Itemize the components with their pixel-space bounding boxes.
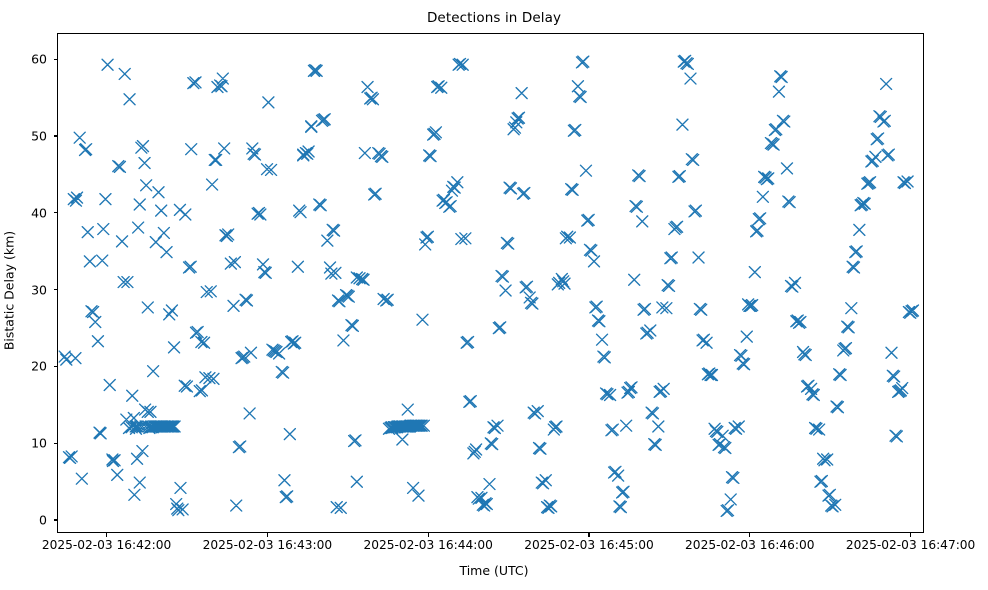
y-tick-label: 0	[0, 512, 47, 527]
x-tick-label: 2025-02-03 16:44:00	[363, 538, 492, 552]
y-tick-label: 60	[0, 52, 47, 67]
y-tick-mark	[54, 443, 58, 444]
matplotlib-figure: Detections in Delay Bistatic Delay (km) …	[0, 0, 988, 590]
y-tick-mark	[54, 212, 58, 213]
y-tick-label: 10	[0, 436, 47, 451]
x-tick-label: 2025-02-03 16:46:00	[685, 538, 814, 552]
x-tick-mark	[749, 533, 750, 537]
x-tick-mark	[106, 533, 107, 537]
plot-area	[58, 34, 923, 532]
x-tick-label: 2025-02-03 16:47:00	[846, 538, 975, 552]
y-tick-label: 40	[0, 205, 47, 220]
scatter-series	[58, 34, 923, 532]
y-tick-mark	[54, 519, 58, 520]
x-tick-mark	[428, 533, 429, 537]
y-tick-mark	[54, 135, 58, 136]
y-tick-label: 30	[0, 282, 47, 297]
y-tick-label: 20	[0, 359, 47, 374]
x-tick-mark	[910, 533, 911, 537]
plot-axes	[57, 33, 924, 533]
x-axis-label: Time (UTC)	[0, 563, 988, 578]
y-tick-mark	[54, 289, 58, 290]
x-tick-label: 2025-02-03 16:43:00	[203, 538, 332, 552]
chart-title: Detections in Delay	[0, 10, 988, 26]
y-tick-mark	[54, 366, 58, 367]
scatter-points	[59, 55, 918, 516]
x-tick-label: 2025-02-03 16:42:00	[42, 538, 171, 552]
y-tick-mark	[54, 59, 58, 60]
x-tick-mark	[267, 533, 268, 537]
y-tick-label: 50	[0, 128, 47, 143]
x-tick-mark	[588, 533, 589, 537]
x-tick-label: 2025-02-03 16:45:00	[524, 538, 653, 552]
